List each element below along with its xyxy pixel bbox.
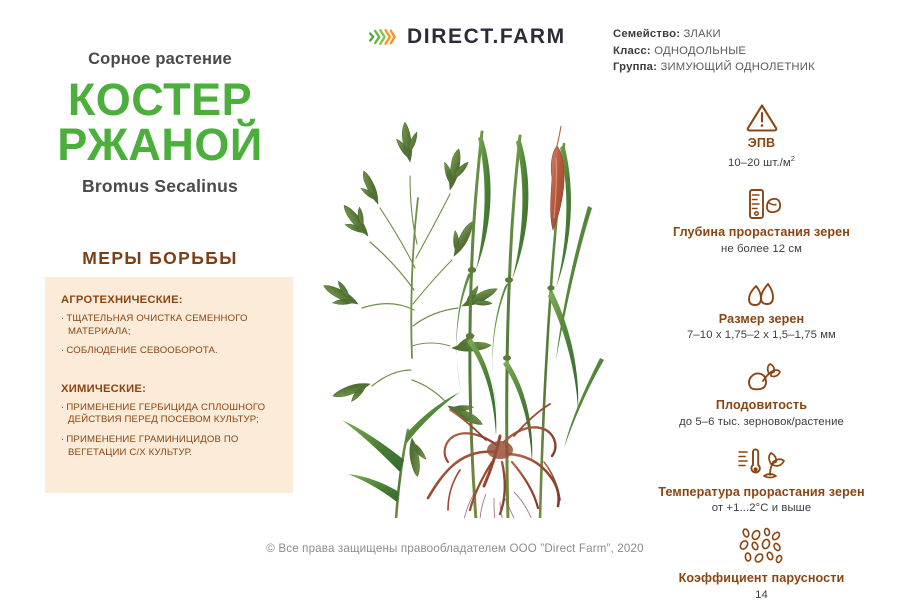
bullet-icon: · <box>61 313 64 324</box>
fact-germination-depth: Глубина прорастания зерен не более 12 см <box>613 181 910 255</box>
taxonomy-label: Класс: <box>613 45 651 57</box>
measures-item: ·ПРИМЕНЕНИЕ ГРАМИНИЦИДОВ ПО ВЕГЕТАЦИИ С/… <box>61 434 279 459</box>
fact-value: 14 <box>613 589 910 601</box>
taxonomy-value: ОДНОДОЛЬНЫЕ <box>654 45 746 57</box>
taxonomy-row-group: Группа: ЗИМУЮЩИЙ ОДНОЛЕТНИК <box>613 59 903 76</box>
taxonomy-value: ЗИМУЮЩИЙ ОДНОЛЕТНИК <box>660 61 814 73</box>
two-seeds-icon <box>613 268 910 308</box>
copyright-footer: © Все права защищены правообладателем ОО… <box>0 542 910 555</box>
ruler-seed-icon <box>613 181 910 221</box>
fact-germination-temperature: Температура прорастания зерен от +1...2°… <box>613 441 910 515</box>
warning-triangle-icon <box>613 92 910 132</box>
brand-logo[interactable]: DIRECT.FARM <box>368 26 566 47</box>
page-title: КОСТЕР РЖАНОЙ <box>0 77 320 167</box>
title-block: Сорное растение КОСТЕР РЖАНОЙ Bromus Sec… <box>0 50 320 197</box>
facts-list: ЭПВ 10–20 шт./м2 <box>613 92 910 614</box>
sprouting-seed-icon <box>613 354 910 394</box>
fact-value: не более 12 см <box>613 243 910 255</box>
fact-value: до 5–6 тыс. зерновок/растение <box>613 416 910 428</box>
fact-grain-size: Размер зерен 7–10 x 1,75–2 x 1,5–1,75 мм <box>613 268 910 342</box>
title-line-2: РЖАНОЙ <box>0 122 320 167</box>
taxonomy-label: Группа: <box>613 61 657 73</box>
fact-label: Глубина прорастания зерен <box>613 225 910 240</box>
logo-text: DIRECT.FARM <box>407 26 566 47</box>
fact-epv: ЭПВ 10–20 шт./м2 <box>613 92 910 168</box>
fact-label: Плодовитость <box>613 398 910 413</box>
measures-group-heading-chem: ХИМИЧЕСКИЕ: <box>61 383 279 395</box>
chevrons-icon <box>368 27 396 47</box>
measures-group-heading-agro: АГРОТЕХНИЧЕСКИЕ: <box>61 294 279 306</box>
measures-box: АГРОТЕХНИЧЕСКИЕ: ·ТЩАТЕЛЬНАЯ ОЧИСТКА СЕМ… <box>45 277 293 493</box>
fact-label: Коэффициент парусности <box>613 571 910 586</box>
fact-value: 10–20 шт./м2 <box>613 154 910 169</box>
taxonomy-row-class: Класс: ОДНОДОЛЬНЫЕ <box>613 43 903 60</box>
bullet-icon: · <box>61 434 64 445</box>
infographic-page: Сорное растение КОСТЕР РЖАНОЙ Bromus Sec… <box>0 0 910 583</box>
bullet-icon: · <box>61 345 64 356</box>
measures-item: ·ТЩАТЕЛЬНАЯ ОЧИСТКА СЕМЕННОГО МАТЕРИАЛА; <box>61 313 279 338</box>
fact-value-superscript: 2 <box>791 154 795 163</box>
fact-windage-coefficient: Коэффициент парусности 14 <box>613 527 910 601</box>
latin-name: Bromus Secalinus <box>0 176 320 197</box>
taxonomy-label: Семейство: <box>613 28 680 40</box>
fact-label: ЭПВ <box>613 136 910 151</box>
bromus-secalinus-botanical-illustration <box>300 58 620 518</box>
measures-title: МЕРЫ БОРЬБЫ <box>0 248 320 269</box>
taxonomy-value: ЗЛАКИ <box>684 28 721 40</box>
title-line-1: КОСТЕР <box>68 74 252 125</box>
bullet-icon: · <box>61 402 64 413</box>
taxonomy-block: Семейство: ЗЛАКИ Класс: ОДНОДОЛЬНЫЕ Груп… <box>613 26 903 76</box>
fact-label: Температура прорастания зерен <box>613 485 910 500</box>
kicker-label: Сорное растение <box>0 50 320 69</box>
taxonomy-row-family: Семейство: ЗЛАКИ <box>613 26 903 43</box>
fact-value: 7–10 x 1,75–2 x 1,5–1,75 мм <box>613 329 910 341</box>
measures-item: ·СОБЛЮДЕНИЕ СЕВООБОРОТА. <box>61 345 279 358</box>
fact-fertility: Плодовитость до 5–6 тыс. зерновок/растен… <box>613 354 910 428</box>
fact-value: от +1...2°С и выше <box>613 502 910 514</box>
thermometer-sprout-icon <box>613 441 910 481</box>
fact-label: Размер зерен <box>613 312 910 327</box>
measures-item: ·ПРИМЕНЕНИЕ ГЕРБИЦИДА СПЛОШНОГО ДЕЙСТВИЯ… <box>61 402 279 427</box>
